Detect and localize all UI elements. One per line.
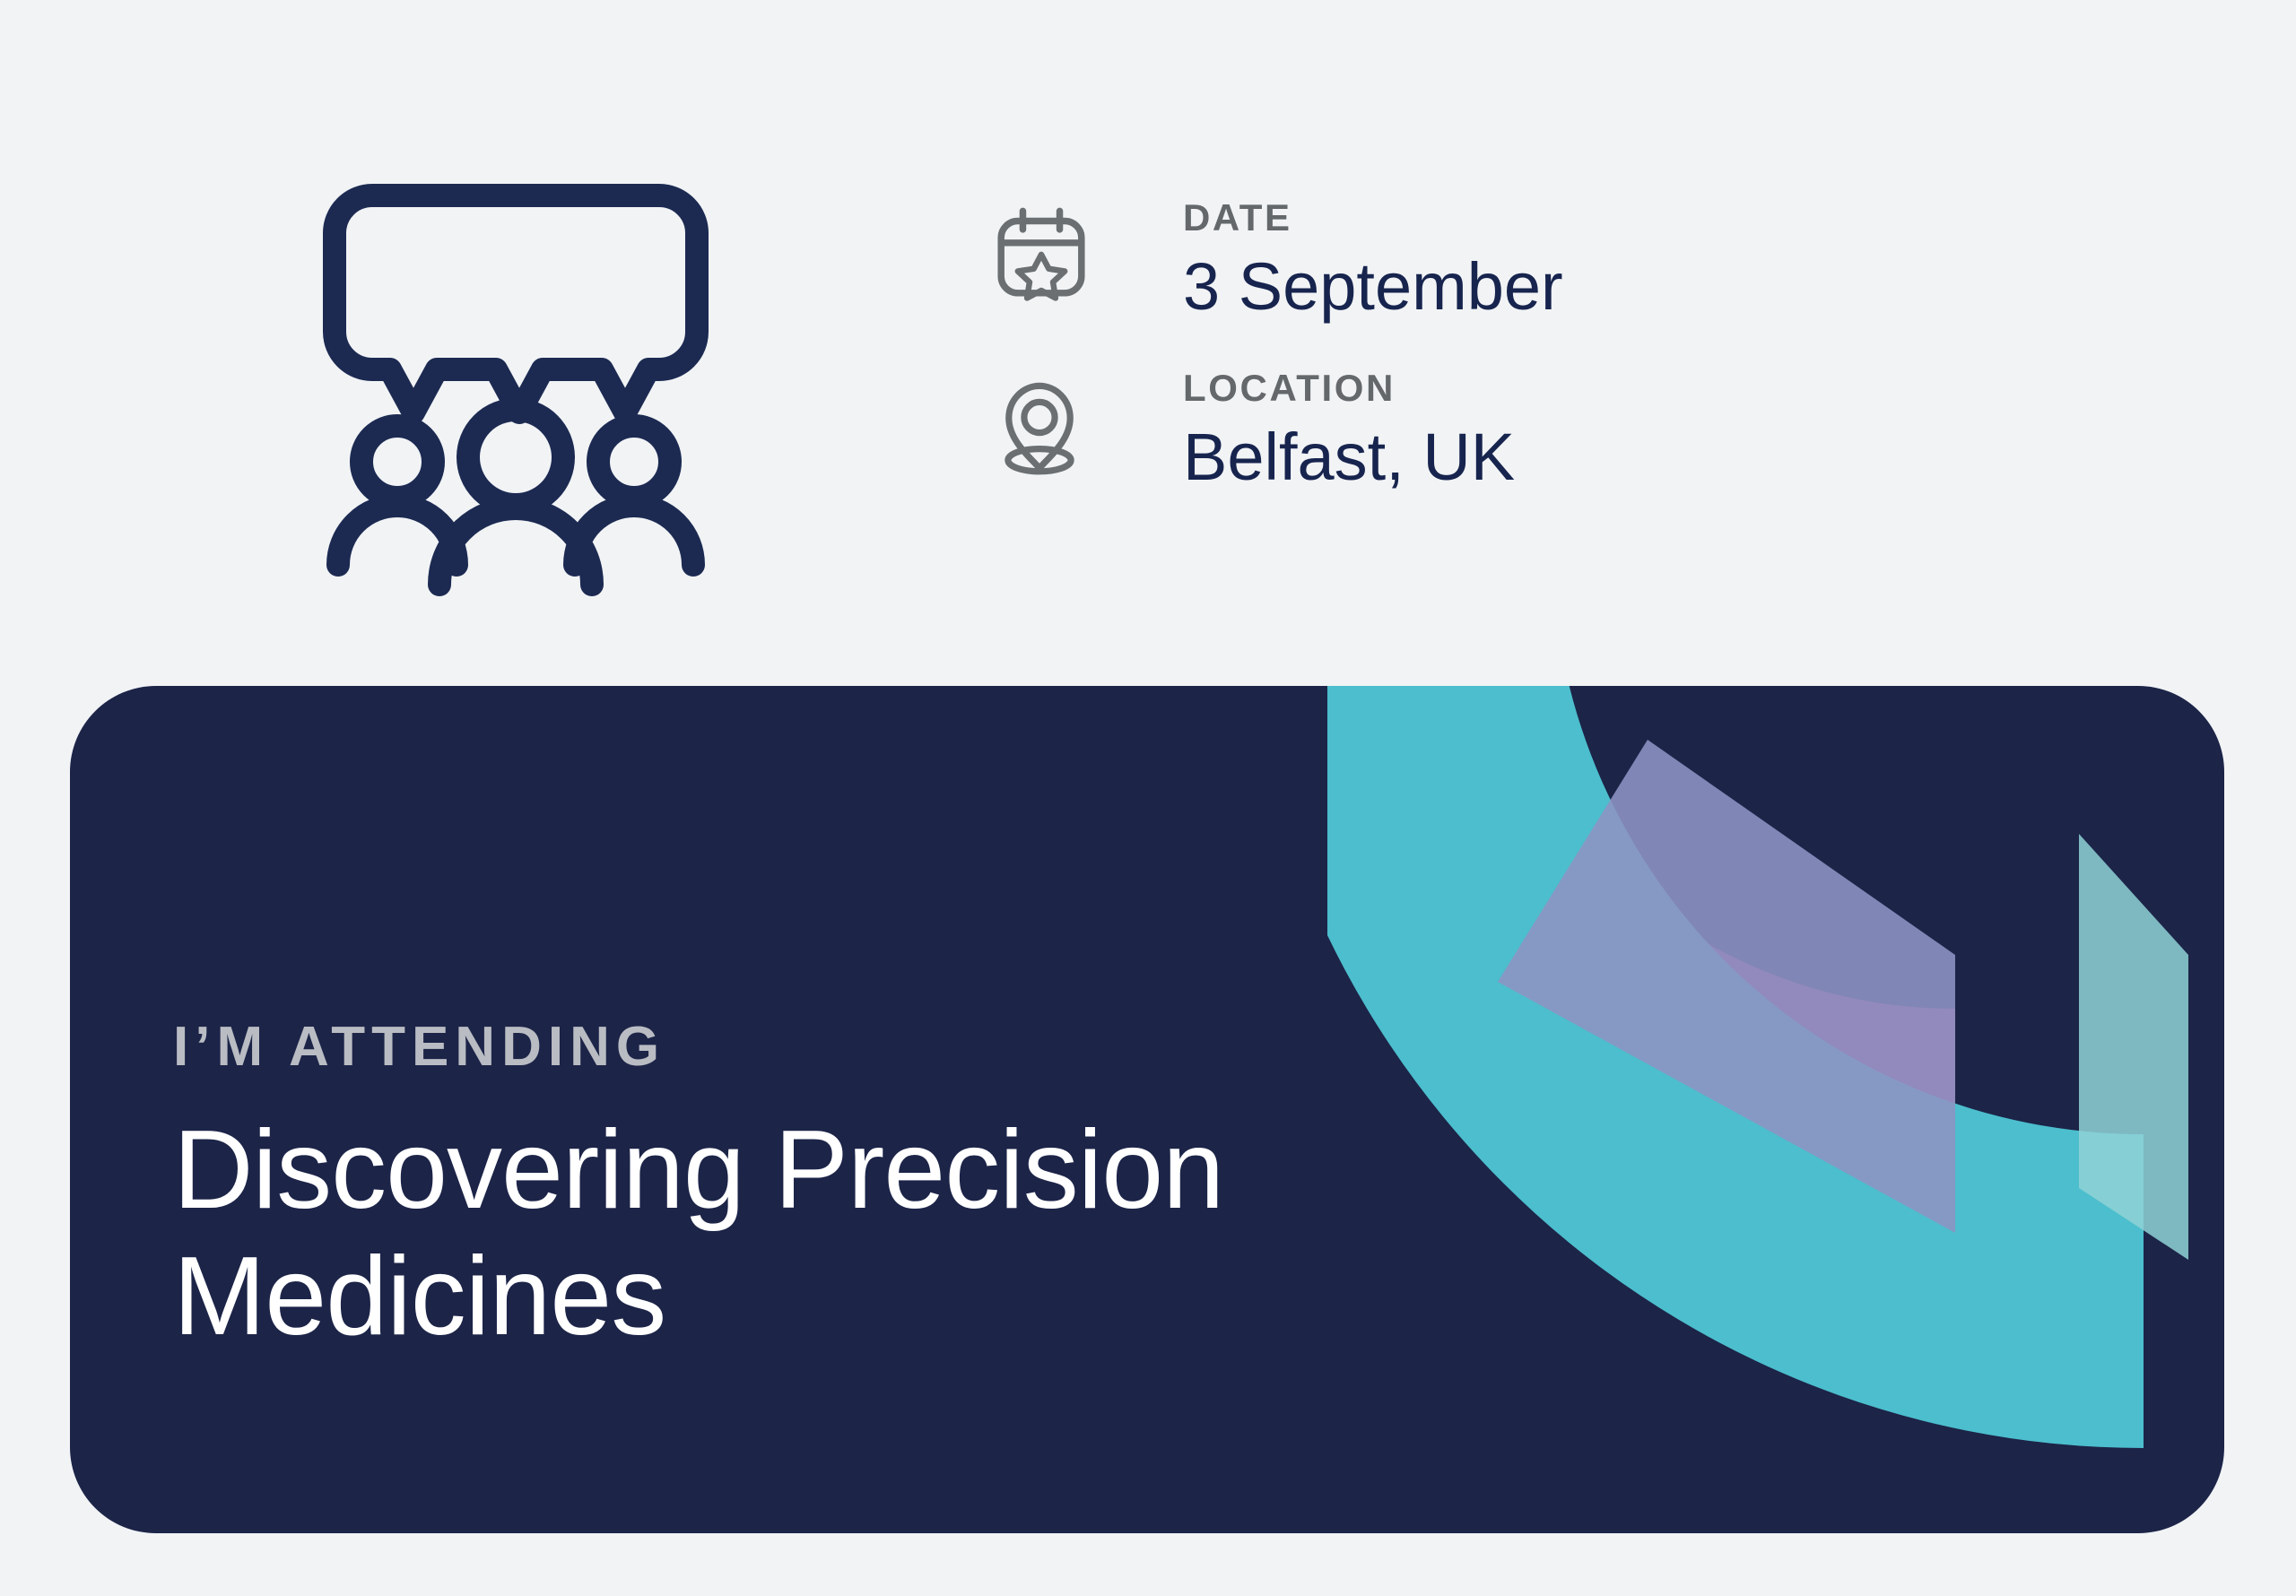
date-value: 3 September [1183, 251, 1563, 323]
event-info-strip: DATE 3 September LOCATION Belfast, UK [0, 0, 2296, 686]
event-meta-list: DATE 3 September LOCATION Belfast, UK [991, 199, 1888, 493]
calendar-star-icon [991, 199, 1108, 303]
speech-bubble-people-icon [318, 143, 713, 610]
event-title-line-1: Discovering Precision [173, 1107, 1518, 1234]
event-meta-row-date: DATE 3 September [991, 199, 1888, 323]
event-meta-text-location: LOCATION Belfast, UK [1108, 369, 1515, 493]
event-meta-text-date: DATE 3 September [1108, 199, 1563, 323]
location-pin-icon [991, 369, 1108, 478]
location-value: Belfast, UK [1183, 421, 1515, 493]
page-title: Discovering Precision Medicines [173, 1107, 1518, 1361]
event-title-line-2: Medicines [173, 1234, 1518, 1360]
banner-copy: I’M ATTENDING Discovering Precision Medi… [173, 1019, 1518, 1361]
event-meta-row-location: LOCATION Belfast, UK [991, 369, 1888, 493]
attending-label: I’M ATTENDING [173, 1019, 1518, 1075]
location-label: LOCATION [1183, 369, 1515, 407]
date-label: DATE [1183, 199, 1563, 237]
attending-banner-card: I’M ATTENDING Discovering Precision Medi… [70, 686, 2224, 1533]
